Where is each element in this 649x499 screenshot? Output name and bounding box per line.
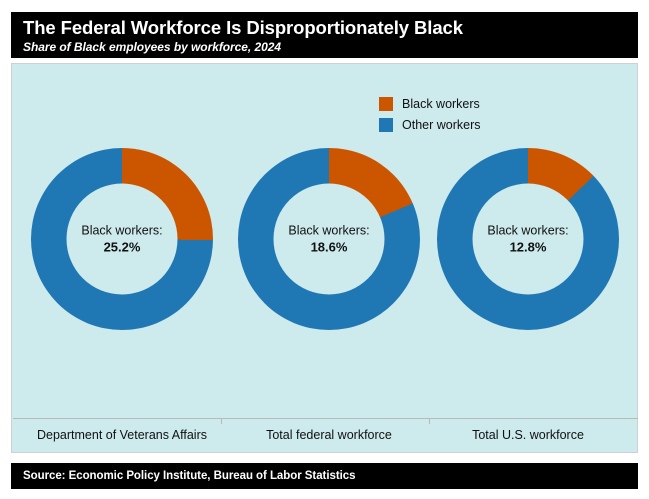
donut-center-label: Black workers: 12.8% — [473, 184, 584, 295]
chart-figure: The Federal Workforce Is Disproportionat… — [0, 0, 649, 499]
chart-legend: Black workers Other workers — [379, 97, 481, 132]
axis-separator-line — [13, 418, 638, 419]
donut-chart-total-federal[interactable]: Black workers: 18.6% — [225, 139, 433, 339]
donut-center-value: 25.2% — [104, 239, 141, 255]
legend-swatch-other-workers — [379, 118, 393, 132]
source-text: Source: Economic Policy Institute, Burea… — [23, 470, 355, 482]
donut-wrapper: Black workers: 25.2% — [31, 148, 213, 330]
donut-wrapper: Black workers: 12.8% — [437, 148, 619, 330]
legend-label-black-workers: Black workers — [402, 97, 480, 111]
legend-swatch-black-workers — [379, 97, 393, 111]
donut-wrapper: Black workers: 18.6% — [238, 148, 420, 330]
donut-chart-veterans-affairs[interactable]: Black workers: 25.2% — [18, 139, 226, 339]
title-band: The Federal Workforce Is Disproportionat… — [11, 12, 638, 58]
category-label-total-us: Total U.S. workforce — [424, 422, 632, 448]
donut-center-label: Black workers: 18.6% — [274, 184, 385, 295]
donut-center-label: Black workers: 25.2% — [67, 184, 178, 295]
source-band: Source: Economic Policy Institute, Burea… — [11, 463, 638, 489]
category-label-veterans-affairs: Department of Veterans Affairs — [18, 422, 226, 448]
legend-label-other-workers: Other workers — [402, 118, 481, 132]
page-title: The Federal Workforce Is Disproportionat… — [23, 16, 638, 39]
donut-center-prefix: Black workers: — [81, 223, 162, 238]
donut-center-value: 18.6% — [311, 239, 348, 255]
donut-center-prefix: Black workers: — [487, 223, 568, 238]
donut-chart-row: Black workers: 25.2% Black workers: 18.6… — [12, 139, 637, 339]
category-label-total-federal: Total federal workforce — [225, 422, 433, 448]
chart-subtitle: Share of Black employees by workforce, 2… — [23, 39, 638, 55]
legend-item-other-workers[interactable]: Other workers — [379, 118, 481, 132]
donut-chart-total-us[interactable]: Black workers: 12.8% — [424, 139, 632, 339]
donut-center-value: 12.8% — [510, 239, 547, 255]
category-axis-labels: Department of Veterans Affairs Total fed… — [12, 422, 637, 448]
donut-center-prefix: Black workers: — [288, 223, 369, 238]
plot-panel: Black workers Other workers Black worker… — [11, 63, 638, 453]
legend-item-black-workers[interactable]: Black workers — [379, 97, 481, 111]
